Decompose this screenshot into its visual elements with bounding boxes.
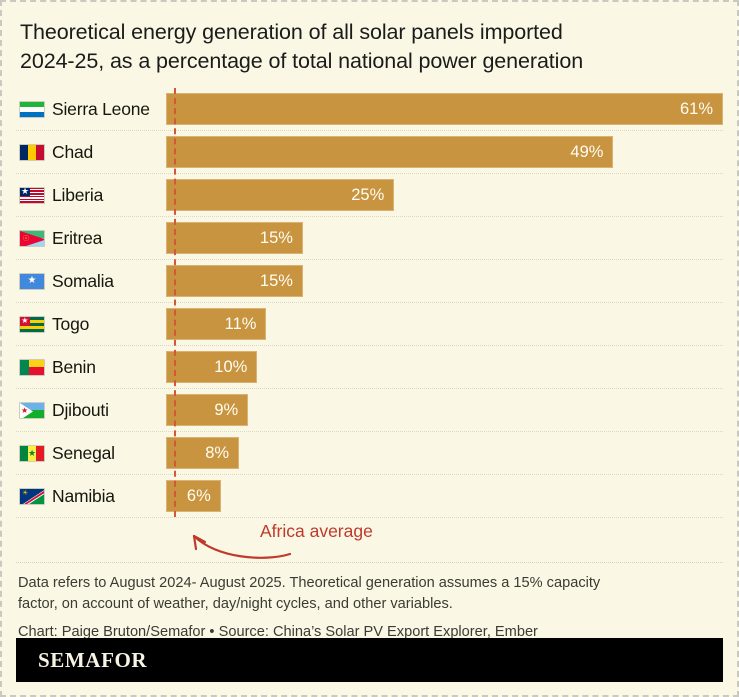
bar-value-label: 9% [214,401,247,420]
flag-benin-icon [19,359,45,376]
bar: 61% [166,93,723,125]
table-row: ★Somalia15% [16,260,723,303]
country-name: Chad [52,142,93,163]
footnote-line-2: factor, on account of weather, day/night… [18,594,721,615]
bar-value-label: 6% [187,487,220,506]
flag-togo-icon: ★ [19,316,45,333]
flag-djibouti-icon: ★ [19,402,45,419]
bar-chart: Sierra Leone61%Chad49%★Liberia25%☉Eritre… [2,88,737,518]
footnote-line-1: Data refers to August 2024- August 2025.… [18,573,721,594]
bar: 8% [166,437,239,469]
bar-value-label: 49% [570,143,612,162]
table-row: ★Togo11% [16,303,723,346]
footer-bar: SEMAFOR [16,638,723,682]
bar-value-label: 11% [225,315,266,334]
country-label-cell: ★Senegal [16,443,166,464]
bar: 15% [166,265,303,297]
country-name: Benin [52,357,96,378]
country-name: Somalia [52,271,114,292]
bar-value-label: 10% [214,358,256,377]
bar: 10% [166,351,257,383]
bar-cell: 15% [166,265,723,297]
country-name: Eritrea [52,228,102,249]
average-annotation: Africa average [2,518,737,562]
bar-cell: 49% [166,136,723,168]
flag-chad-icon [19,144,45,161]
bar-cell: 25% [166,179,723,211]
country-name: Namibia [52,486,115,507]
flag-liberia-icon: ★ [19,187,45,204]
flag-namibia-icon: ☀ [19,488,45,505]
table-row: Chad49% [16,131,723,174]
country-name: Djibouti [52,400,109,421]
bar: 49% [166,136,613,168]
title-line-2: 2024-25, as a percentage of total nation… [20,47,719,76]
bar: 25% [166,179,394,211]
bar-value-label: 15% [260,272,302,291]
notes-section: Data refers to August 2024- August 2025.… [2,563,737,639]
bar: 9% [166,394,248,426]
bar-value-label: 25% [351,186,393,205]
flag-eritrea-icon: ☉ [19,230,45,247]
country-label-cell: ☀Namibia [16,486,166,507]
bar-value-label: 15% [260,229,302,248]
bar-cell: 9% [166,394,723,426]
country-name: Sierra Leone [52,99,150,120]
table-row: ☉Eritrea15% [16,217,723,260]
average-annotation-label: Africa average [260,521,373,542]
footnote: Data refers to August 2024- August 2025.… [18,573,721,614]
bar: 11% [166,308,266,340]
country-label-cell: ☉Eritrea [16,228,166,249]
bar-cell: 15% [166,222,723,254]
table-row: Sierra Leone61% [16,88,723,131]
bar-cell: 11% [166,308,723,340]
bar-cell: 8% [166,437,723,469]
country-label-cell: ★Djibouti [16,400,166,421]
country-label-cell: ★Somalia [16,271,166,292]
country-name: Togo [52,314,89,335]
table-row: Benin10% [16,346,723,389]
bar-value-label: 8% [205,444,238,463]
semafor-wordmark: SEMAFOR [16,648,147,673]
title-line-1: Theoretical energy generation of all sol… [20,18,719,47]
bar-value-label: 61% [680,100,722,119]
country-label-cell: ★Liberia [16,185,166,206]
flag-senegal-icon: ★ [19,445,45,462]
bar: 6% [166,480,221,512]
page-title: Theoretical energy generation of all sol… [2,2,737,75]
flag-sierra-leone-icon [19,101,45,118]
table-row: ★Liberia25% [16,174,723,217]
country-label-cell: Sierra Leone [16,99,166,120]
table-row: ☀Namibia6% [16,475,723,518]
table-row: ★Senegal8% [16,432,723,475]
chart-card: Theoretical energy generation of all sol… [0,0,739,697]
bar-cell: 61% [166,93,723,125]
bar-cell: 10% [166,351,723,383]
country-name: Liberia [52,185,103,206]
bar: 15% [166,222,303,254]
country-label-cell: Chad [16,142,166,163]
country-label-cell: ★Togo [16,314,166,335]
bar-cell: 6% [166,480,723,512]
flag-somalia-icon: ★ [19,273,45,290]
country-label-cell: Benin [16,357,166,378]
country-name: Senegal [52,443,115,464]
table-row: ★Djibouti9% [16,389,723,432]
